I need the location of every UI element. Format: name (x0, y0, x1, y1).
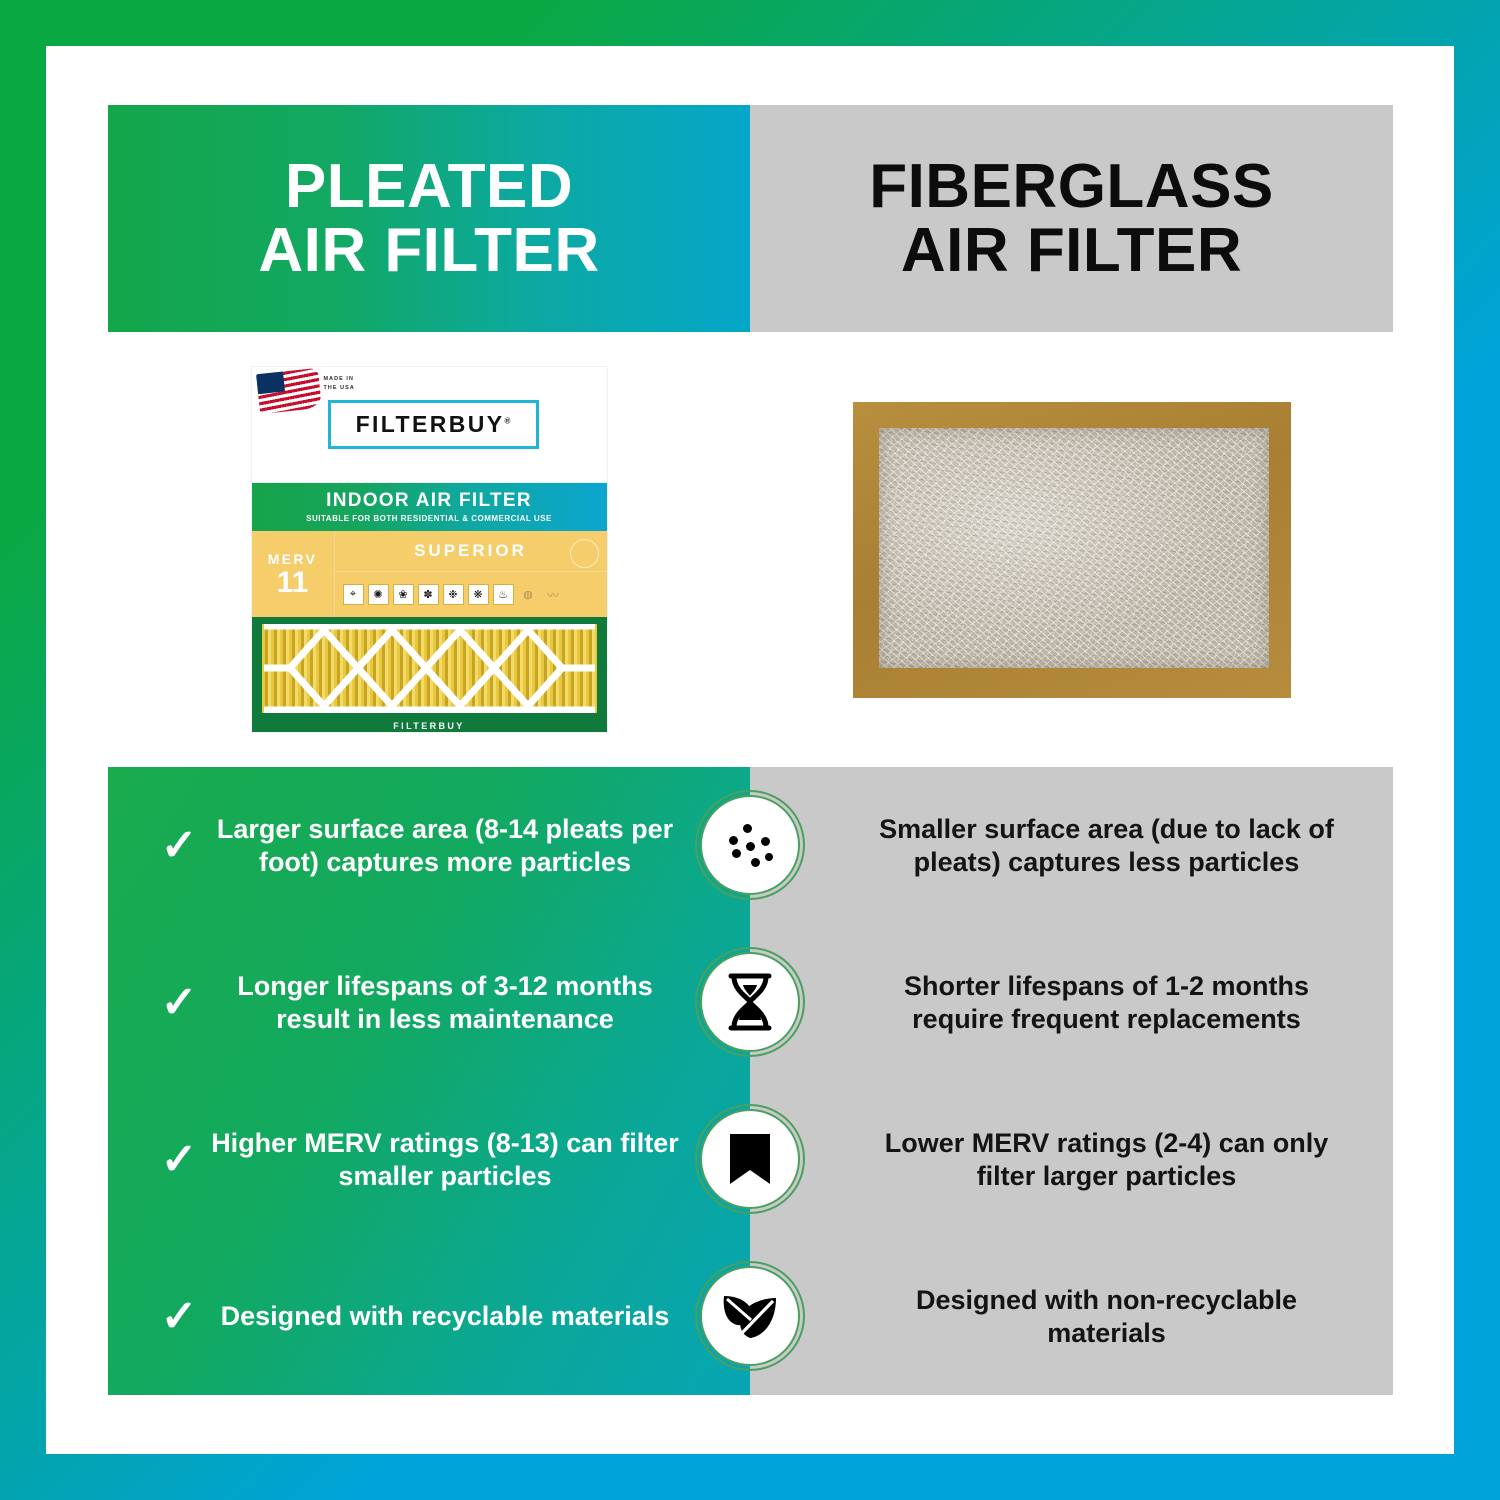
product-image-row: MADE IN THE USA FILTERBUY® INDOOR AIR FI… (108, 332, 1393, 767)
package-pleat-view: FILTERBUY (252, 617, 607, 732)
package-band-title: INDOOR AIR FILTER (326, 491, 532, 512)
row-text-fiberglass: Designed with non-recyclable materials (860, 1284, 1353, 1350)
pleated-filter-image-cell: MADE IN THE USA FILTERBUY® INDOOR AIR FI… (108, 332, 750, 767)
smoke-icon: ♨ (493, 584, 514, 605)
header-pleated-line2: AIR FILTER (258, 219, 599, 282)
odor-icon-disabled: 〰 (543, 584, 564, 605)
dust-mite-icon: ✺ (368, 584, 389, 605)
header-fiberglass-line2: AIR FILTER (869, 219, 1274, 282)
ul-certification-icon (570, 539, 599, 568)
header-fiberglass-line1: FIBERGLASS (869, 152, 1274, 221)
particles-icon (700, 795, 800, 895)
made-in-usa-text: MADE IN THE USA (324, 375, 355, 392)
package-merv-band: MERV 11 SUPERIOR ⌖ ✺ ❀ ✽ ❉ ❋ (252, 531, 607, 617)
check-icon: ✓ (148, 1138, 210, 1182)
bookmark-icon (700, 1109, 800, 1209)
mold-spore-icon: ✽ (418, 584, 439, 605)
row-text-pleated: Higher MERV ratings (8-13) can filter sm… (210, 1127, 680, 1193)
merv-badge: MERV 11 (252, 531, 335, 617)
pet-dander-icon: ❋ (468, 584, 489, 605)
filterbuy-logo: FILTERBUY® (328, 400, 539, 449)
lattice-support-icon (262, 624, 597, 713)
header-fiberglass: FIBERGLASS AIR FILTER (750, 105, 1393, 332)
fiberglass-filter (853, 402, 1291, 698)
check-icon: ✓ (148, 981, 210, 1025)
check-icon: ✓ (148, 824, 210, 868)
pollen-icon: ❀ (393, 584, 414, 605)
fiberglass-filter-image-cell (750, 332, 1393, 767)
check-icon: ✓ (148, 1295, 210, 1339)
row-text-pleated: Larger surface area (8-14 pleats per foo… (210, 813, 680, 879)
bacteria-icon: ❉ (443, 584, 464, 605)
comparison-section: ✓ Larger surface area (8-14 pleats per f… (108, 767, 1393, 1395)
comparison-rows: ✓ Larger surface area (8-14 pleats per f… (108, 767, 1393, 1395)
leaf-icon (700, 1266, 800, 1366)
row-text-fiberglass: Lower MERV ratings (2-4) can only filter… (860, 1127, 1353, 1193)
dust-icon: ⌖ (343, 584, 364, 605)
package-footer-brand: FILTERBUY (252, 721, 607, 731)
package-top-panel: MADE IN THE USA FILTERBUY® (252, 367, 607, 483)
package-tier-label: SUPERIOR (335, 531, 607, 572)
header-pleated: PLEATED AIR FILTER (108, 105, 750, 332)
merv-value: 11 (277, 568, 309, 598)
row-text-fiberglass: Smaller surface area (due to lack of ple… (860, 813, 1353, 879)
package-indoor-band: INDOOR AIR FILTER SUITABLE FOR BOTH RESI… (252, 483, 607, 531)
merv-label: MERV (268, 551, 317, 567)
row-text-fiberglass: Shorter lifespans of 1-2 months require … (860, 970, 1353, 1036)
virus-icon-disabled: ◍ (518, 584, 539, 605)
filterbuy-package: MADE IN THE USA FILTERBUY® INDOOR AIR FI… (252, 367, 607, 732)
capability-icon-strip: ⌖ ✺ ❀ ✽ ❉ ❋ ♨ ◍ 〰 (335, 572, 607, 617)
hourglass-icon (700, 952, 800, 1052)
header-row: PLEATED AIR FILTER FIBERGLASS AIR FILTER (108, 105, 1393, 332)
row-text-pleated: Longer lifespans of 3-12 months result i… (210, 970, 680, 1036)
infographic-frame: PLEATED AIR FILTER FIBERGLASS AIR FILTER (0, 0, 1500, 1500)
fiberglass-media (879, 428, 1269, 668)
package-band-subtitle: SUITABLE FOR BOTH RESIDENTIAL & COMMERCI… (306, 514, 552, 523)
row-text-pleated: Designed with recyclable materials (210, 1300, 680, 1333)
comparison-infographic: PLEATED AIR FILTER FIBERGLASS AIR FILTER (108, 105, 1393, 1395)
header-pleated-line1: PLEATED (285, 152, 573, 221)
usa-flag-icon (256, 368, 322, 414)
